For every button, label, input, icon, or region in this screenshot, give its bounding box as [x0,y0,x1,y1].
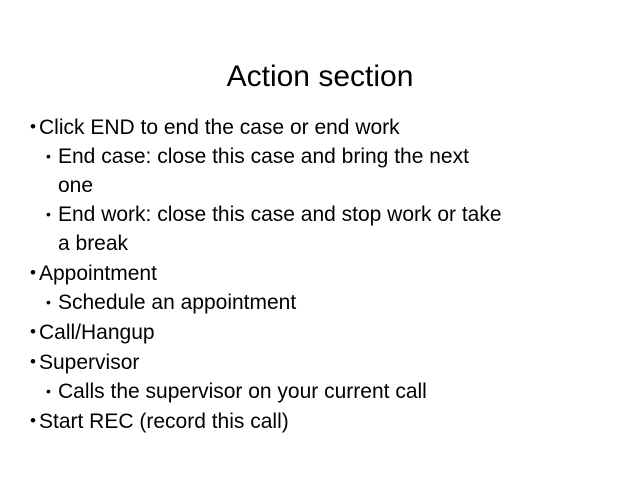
bullet-text: Supervisor [39,351,139,374]
bullet-text: End case: close this case and bring the … [58,145,469,168]
bullet-text: Calls the supervisor on your current cal… [58,380,427,403]
bullet-dot-icon: • [46,377,58,406]
bullet-text: Click END to end the case or end work [39,116,400,139]
bullet-item-level-1: •Appointment [30,258,630,288]
bullet-item-level-2: •Schedule an appointment [46,288,630,317]
bullet-dot-icon: • [46,200,58,229]
bullet-dot-icon: • [46,288,58,317]
slide-body-content-placeholder[interactable]: •Click END to end the case or end work•E… [30,112,630,436]
bullet-item-level-2: •Calls the supervisor on your current ca… [46,377,630,406]
bullet-item-level-1: •Start REC (record this call) [30,406,630,436]
page-title: Action section [0,58,640,96]
bullet-text: one [58,174,93,197]
bullet-item-level-1: •Call/Hangup [30,317,630,347]
bullet-item-level-1: •Supervisor [30,347,630,377]
bullet-text: a break [58,232,128,255]
bullet-dot-icon: • [30,258,39,287]
bullet-wrap-line: a break [58,229,630,258]
bullet-dot-icon: • [30,406,39,435]
bullet-item-level-1: •Click END to end the case or end work [30,112,630,142]
bullet-dot-icon: • [30,347,39,376]
bullet-wrap-line: one [58,171,630,200]
bullet-item-level-2: •End case: close this case and bring the… [46,142,630,171]
bullet-dot-icon: • [30,112,39,141]
bullet-text: Call/Hangup [39,321,155,344]
bullet-text: Appointment [39,262,157,285]
bullet-text: Start REC (record this call) [39,410,289,433]
slide-canvas: Action section •Click END to end the cas… [0,0,640,480]
bullet-dot-icon: • [30,317,39,346]
bullet-dot-icon: • [46,142,58,171]
bullet-item-level-2: •End work: close this case and stop work… [46,200,630,229]
bullet-text: End work: close this case and stop work … [58,203,502,226]
bullet-text: Schedule an appointment [58,291,296,314]
